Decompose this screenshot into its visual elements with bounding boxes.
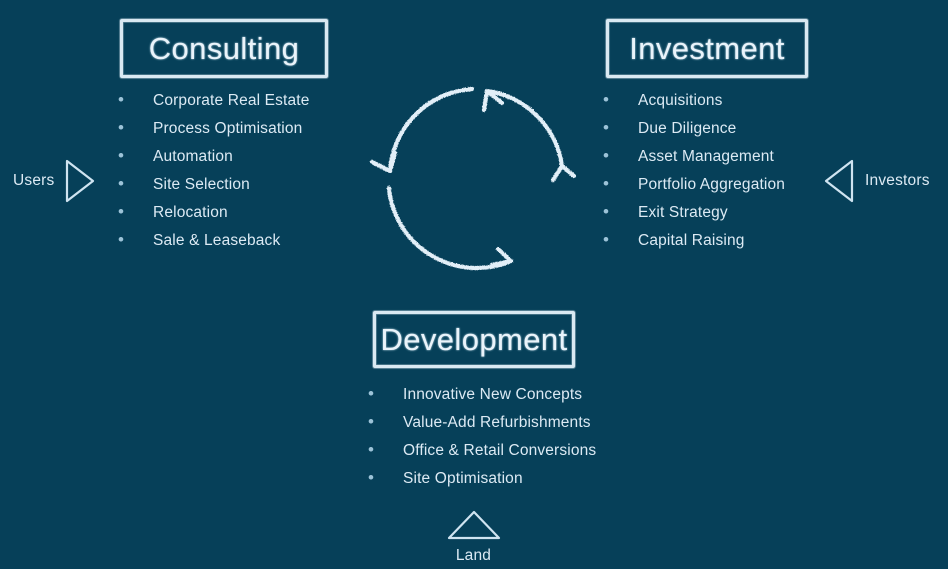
bullet-icon: • bbox=[368, 464, 384, 492]
section-heading-box-investment: Investment bbox=[606, 19, 808, 78]
list-item: • Exit Strategy bbox=[603, 198, 785, 226]
bullet-icon: • bbox=[603, 226, 619, 254]
section-heading-development: Development bbox=[380, 324, 567, 355]
bullet-icon: • bbox=[368, 408, 384, 436]
list-item-label: Office & Retail Conversions bbox=[403, 437, 596, 465]
triangle-right-icon bbox=[64, 158, 96, 204]
list-item-label: Asset Management bbox=[638, 143, 774, 171]
bullet-icon: • bbox=[118, 86, 134, 114]
bullet-icon: • bbox=[118, 198, 134, 226]
bullet-icon: • bbox=[368, 380, 384, 408]
list-item-label: Portfolio Aggregation bbox=[638, 171, 785, 199]
list-item-label: Site Optimisation bbox=[403, 465, 523, 493]
list-item: • Asset Management bbox=[603, 142, 785, 170]
actor-land: Land bbox=[420, 508, 527, 565]
list-item: • Process Optimisation bbox=[118, 114, 310, 142]
bullet-icon: • bbox=[118, 114, 134, 142]
section-heading-box-development: Development bbox=[373, 311, 575, 368]
triangle-left-icon bbox=[823, 158, 855, 204]
diagram-canvas: Consulting • Corporate Real Estate • Pro… bbox=[0, 0, 948, 569]
actor-investors-label: Investors bbox=[865, 172, 930, 190]
bullet-icon: • bbox=[603, 142, 619, 170]
actor-investors: Investors bbox=[823, 158, 930, 204]
list-item-label: Value-Add Refurbishments bbox=[403, 409, 591, 437]
actor-users-label: Users bbox=[13, 172, 54, 190]
list-item-label: Innovative New Concepts bbox=[403, 381, 582, 409]
list-item: • Innovative New Concepts bbox=[368, 380, 596, 408]
bullet-icon: • bbox=[368, 436, 384, 464]
bullet-icon: • bbox=[118, 170, 134, 198]
list-item: • Site Optimisation bbox=[368, 464, 596, 492]
list-item: • Portfolio Aggregation bbox=[603, 170, 785, 198]
list-item: • Office & Retail Conversions bbox=[368, 436, 596, 464]
bullet-icon: • bbox=[603, 198, 619, 226]
bullet-icon: • bbox=[603, 114, 619, 142]
circular-arrows-icon bbox=[350, 70, 600, 290]
list-item: • Relocation bbox=[118, 198, 310, 226]
actor-land-label: Land bbox=[456, 547, 491, 565]
bullet-icon: • bbox=[118, 142, 134, 170]
list-item-label: Process Optimisation bbox=[153, 115, 302, 143]
list-item-label: Sale & Leaseback bbox=[153, 227, 280, 255]
list-item-label: Exit Strategy bbox=[638, 199, 728, 227]
list-item-label: Relocation bbox=[153, 199, 228, 227]
list-item-label: Due Diligence bbox=[638, 115, 736, 143]
list-item: • Acquisitions bbox=[603, 86, 785, 114]
list-item-label: Site Selection bbox=[153, 171, 250, 199]
list-item: • Automation bbox=[118, 142, 310, 170]
bullet-icon: • bbox=[603, 170, 619, 198]
list-item: • Capital Raising bbox=[603, 226, 785, 254]
list-item: • Corporate Real Estate bbox=[118, 86, 310, 114]
bullet-list-consulting: • Corporate Real Estate • Process Optimi… bbox=[118, 86, 310, 254]
list-item: • Sale & Leaseback bbox=[118, 226, 310, 254]
bullet-icon: • bbox=[603, 86, 619, 114]
section-heading-consulting: Consulting bbox=[149, 33, 299, 64]
section-heading-box-consulting: Consulting bbox=[120, 19, 328, 78]
list-item-label: Acquisitions bbox=[638, 87, 723, 115]
triangle-up-icon bbox=[445, 508, 503, 542]
list-item-label: Automation bbox=[153, 143, 233, 171]
bullet-icon: • bbox=[118, 226, 134, 254]
list-item: • Value-Add Refurbishments bbox=[368, 408, 596, 436]
bullet-list-development: • Innovative New Concepts • Value-Add Re… bbox=[368, 380, 596, 492]
list-item: • Due Diligence bbox=[603, 114, 785, 142]
list-item: • Site Selection bbox=[118, 170, 310, 198]
list-item-label: Capital Raising bbox=[638, 227, 745, 255]
actor-users: Users bbox=[13, 158, 96, 204]
section-heading-investment: Investment bbox=[629, 33, 785, 64]
bullet-list-investment: • Acquisitions • Due Diligence • Asset M… bbox=[603, 86, 785, 254]
list-item-label: Corporate Real Estate bbox=[153, 87, 310, 115]
